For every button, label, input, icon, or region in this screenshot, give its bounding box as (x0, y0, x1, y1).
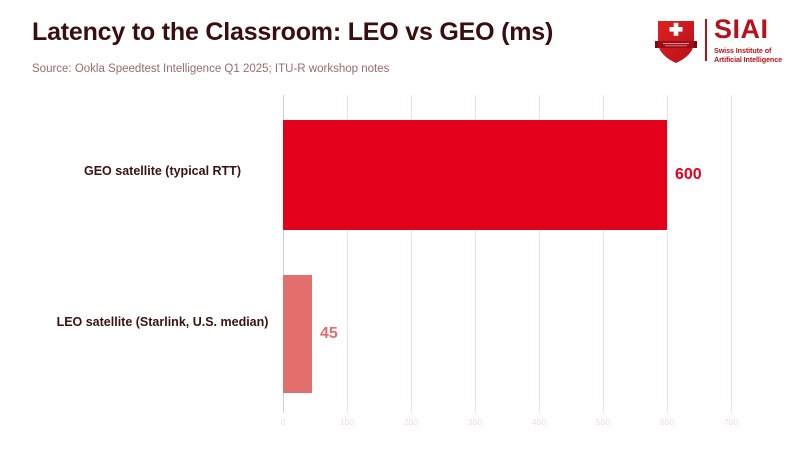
x-tick-label: 100 (340, 417, 354, 427)
x-tick-label: 600 (660, 417, 674, 427)
x-tick-label: 300 (468, 417, 482, 427)
chart-source-note: Source: Ookla Speedtest Intelligence Q1 … (32, 63, 389, 75)
logo-tagline-line1: Swiss Institute of (714, 46, 782, 55)
logo-tagline: Swiss Institute of Artificial Intelligen… (714, 46, 782, 64)
bar-value-leo: 45 (320, 325, 338, 343)
siai-logo: SIAI Swiss Institute of Artificial Intel… (654, 14, 782, 66)
logo-siai-text: SIAI (714, 16, 782, 43)
x-tick-label: 500 (596, 417, 610, 427)
bar-value-geo: 600 (675, 166, 702, 184)
bar-leo (283, 275, 312, 393)
x-tick-label: 700 (724, 417, 738, 427)
logo-wordmark: SIAI Swiss Institute of Artificial Intel… (714, 16, 782, 64)
swiss-cross-shield-icon (654, 16, 698, 64)
x-tick-label: 200 (404, 417, 418, 427)
x-tick-label: 0 (281, 417, 286, 427)
plot-area: 600 45 0 100 200 300 400 500 600 700 (283, 95, 731, 413)
logo-tagline-line2: Artificial Intelligence (714, 55, 782, 64)
gridline (731, 95, 732, 413)
bar-geo (283, 120, 667, 230)
x-tick-label: 400 (532, 417, 546, 427)
page-title: Latency to the Classroom: LEO vs GEO (ms… (32, 18, 553, 47)
chart-header: Latency to the Classroom: LEO vs GEO (ms… (0, 0, 800, 92)
logo-divider (705, 19, 707, 61)
chart-slide: Latency to the Classroom: LEO vs GEO (ms… (0, 0, 800, 450)
category-label-leo: LEO satellite (Starlink, U.S. median) (55, 314, 270, 331)
gridline (667, 95, 668, 413)
category-label-geo: GEO satellite (typical RTT) (55, 163, 270, 180)
